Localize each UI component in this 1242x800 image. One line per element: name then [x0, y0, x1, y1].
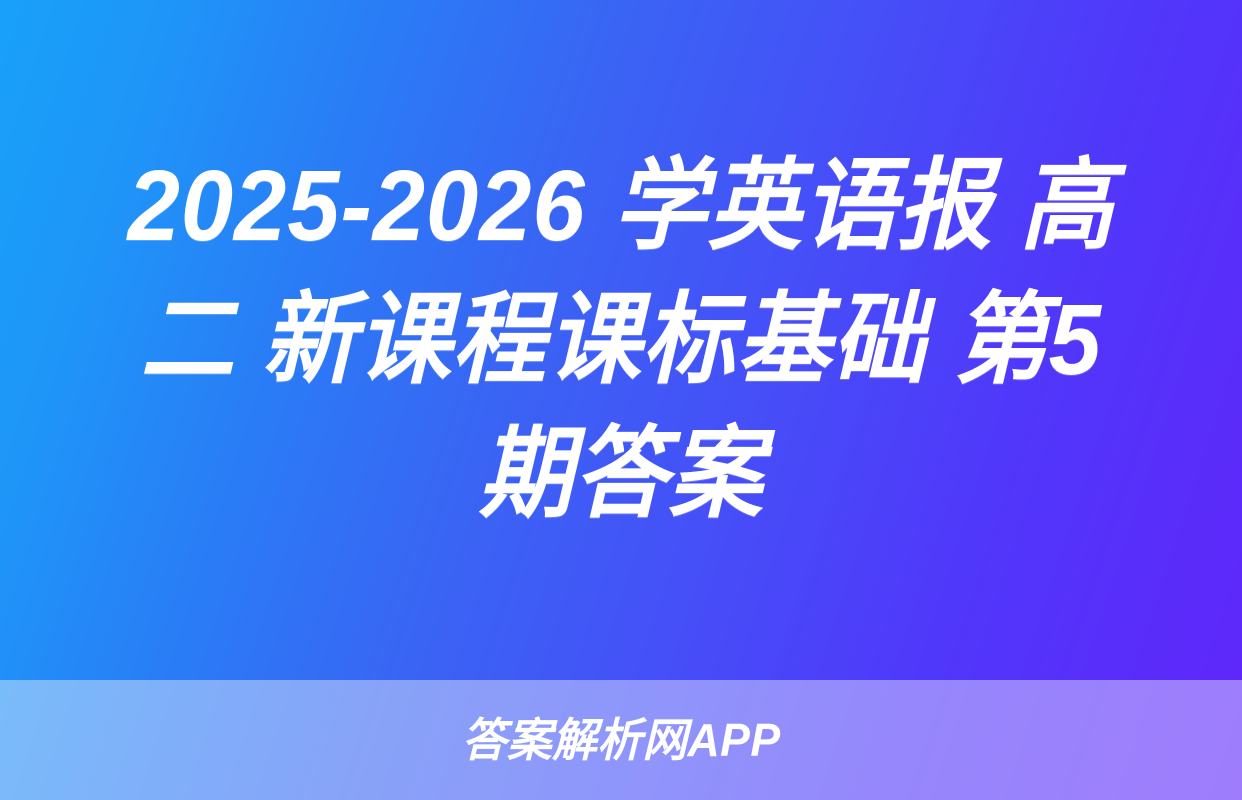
- title-block: 2025-2026 学英语报 高二 新课程课标基础 第5期答案: [0, 0, 1242, 680]
- cover-card: 2025-2026 学英语报 高二 新课程课标基础 第5期答案 答案解析网APP: [0, 0, 1242, 800]
- footer-watermark-band: 答案解析网APP: [0, 680, 1242, 800]
- footer-brand-label: 答案解析网APP: [462, 717, 781, 763]
- page-title: 2025-2026 学英语报 高二 新课程课标基础 第5期答案: [96, 139, 1147, 541]
